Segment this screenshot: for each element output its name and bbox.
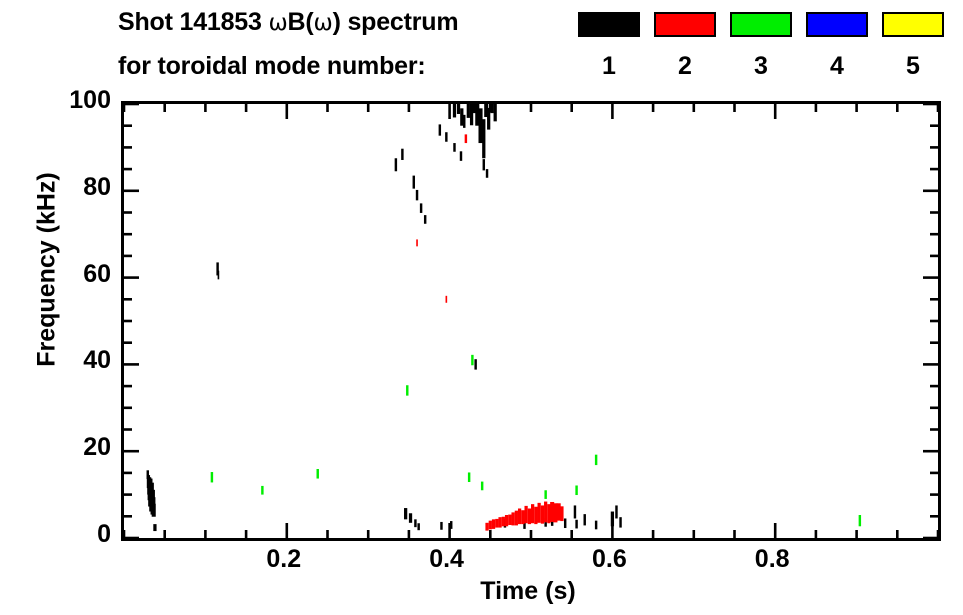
data-mark [474,359,476,369]
data-mark [859,515,861,526]
legend: 12345 [578,12,958,90]
data-mark [564,518,566,528]
data-mark [465,134,467,143]
data-mark [317,469,319,479]
data-mark [463,115,465,128]
legend-swatch-mode-3 [730,12,792,37]
data-mark [468,472,470,482]
data-mark [453,104,456,117]
y-tick-label-20: 20 [49,435,111,460]
data-mark [534,507,537,524]
title-b-text: B( [288,8,314,36]
data-mark [611,512,614,527]
data-mark [424,215,426,224]
data-mark [414,519,416,527]
data-mark [518,508,521,524]
data-mark [482,119,485,158]
data-mark [406,385,408,395]
data-mark [401,149,403,160]
data-mark [505,515,508,526]
data-series-mode-1 [147,104,622,531]
data-mark [261,486,263,495]
data-mark [472,104,475,113]
data-mark [218,271,220,280]
data-mark [584,514,586,525]
data-mark [409,513,412,523]
x-tick-label-0.2: 0.2 [244,547,324,572]
data-mark [547,504,550,523]
data-mark [619,517,621,527]
data-series-mode-3 [211,355,861,526]
legend-entry-1: 1 [578,12,640,37]
legend-entry-4: 4 [806,12,868,37]
chart-title-line-2: for toroidal mode number: [118,52,426,81]
data-mark [450,521,452,529]
data-mark [544,490,546,499]
data-mark [417,523,419,530]
data-mark [531,504,534,523]
data-mark [595,455,597,465]
data-mark [420,203,422,213]
data-mark [490,104,493,113]
data-mark [498,517,501,527]
title-spectrum-text: ) spectrum [333,8,459,36]
data-mark [502,517,505,527]
legend-label-mode-2: 2 [654,52,716,81]
data-mark [486,169,488,178]
data-mark [445,132,447,142]
data-mark [478,108,482,143]
data-mark [481,482,483,491]
legend-label-mode-1: 1 [578,52,640,81]
chart-title-line-1: Shot 141853 ωB(ω) spectrum [118,8,458,37]
data-mark [483,159,485,170]
data-mark [515,511,518,526]
data-mark [494,104,497,121]
data-mark [453,143,455,152]
data-mark [460,108,463,125]
data-mark [524,506,527,523]
data-mark [471,355,473,365]
data-mark [404,508,407,519]
data-mark [467,104,470,118]
x-tick-label-0.6: 0.6 [569,547,649,572]
y-tick-label-80: 80 [49,175,111,200]
data-mark [575,520,577,529]
data-mark [487,108,490,130]
y-tick-label-0: 0 [49,522,111,547]
x-tick-label-0.4: 0.4 [407,547,487,572]
data-mark [457,104,460,114]
legend-entry-3: 3 [730,12,792,37]
x-axis-label: Time (s) [121,577,935,606]
legend-swatch-mode-1 [578,12,640,37]
data-mark [544,502,547,523]
y-tick-label-40: 40 [49,348,111,373]
y-tick-label-60: 60 [49,262,111,287]
legend-label-mode-5: 5 [882,52,944,81]
data-mark [495,519,498,528]
data-mark [528,508,531,524]
title-shot-text: Shot 141853 [118,8,268,36]
data-mark [211,472,213,482]
legend-entry-5: 5 [882,12,944,37]
legend-label-mode-4: 4 [806,52,868,81]
x-tick-label-0.8: 0.8 [732,547,812,572]
data-series-mode-2 [416,134,563,530]
y-tick-label-100: 100 [49,88,111,113]
legend-swatch-mode-2 [654,12,716,37]
spectrogram-canvas [124,104,938,538]
data-mark [413,176,415,189]
data-mark [541,505,544,523]
data-mark [538,503,541,523]
data-mark [489,521,492,530]
data-mark [416,239,418,246]
omega-symbol-1: ω [268,10,287,36]
plot-area [121,101,941,541]
data-mark [485,523,488,531]
data-mark [595,521,597,530]
data-mark [440,522,442,530]
data-mark [395,158,397,171]
data-mark [153,524,156,531]
data-mark [574,505,576,518]
data-mark [557,503,561,520]
data-mark [147,470,149,479]
data-mark [511,512,514,525]
data-mark [416,190,418,200]
data-mark [508,515,511,525]
legend-label-mode-3: 3 [730,52,792,81]
data-mark [492,519,495,529]
legend-entry-2: 2 [654,12,716,37]
legend-swatch-mode-4 [806,12,868,37]
legend-swatch-mode-5 [882,12,944,37]
data-mark [460,151,462,161]
data-mark [560,506,563,521]
data-mark [615,505,617,518]
data-mark [446,296,448,303]
data-mark [152,504,156,517]
data-mark [521,510,524,524]
omega-symbol-2: ω [314,10,333,36]
data-mark [575,485,577,495]
data-mark [439,124,441,135]
